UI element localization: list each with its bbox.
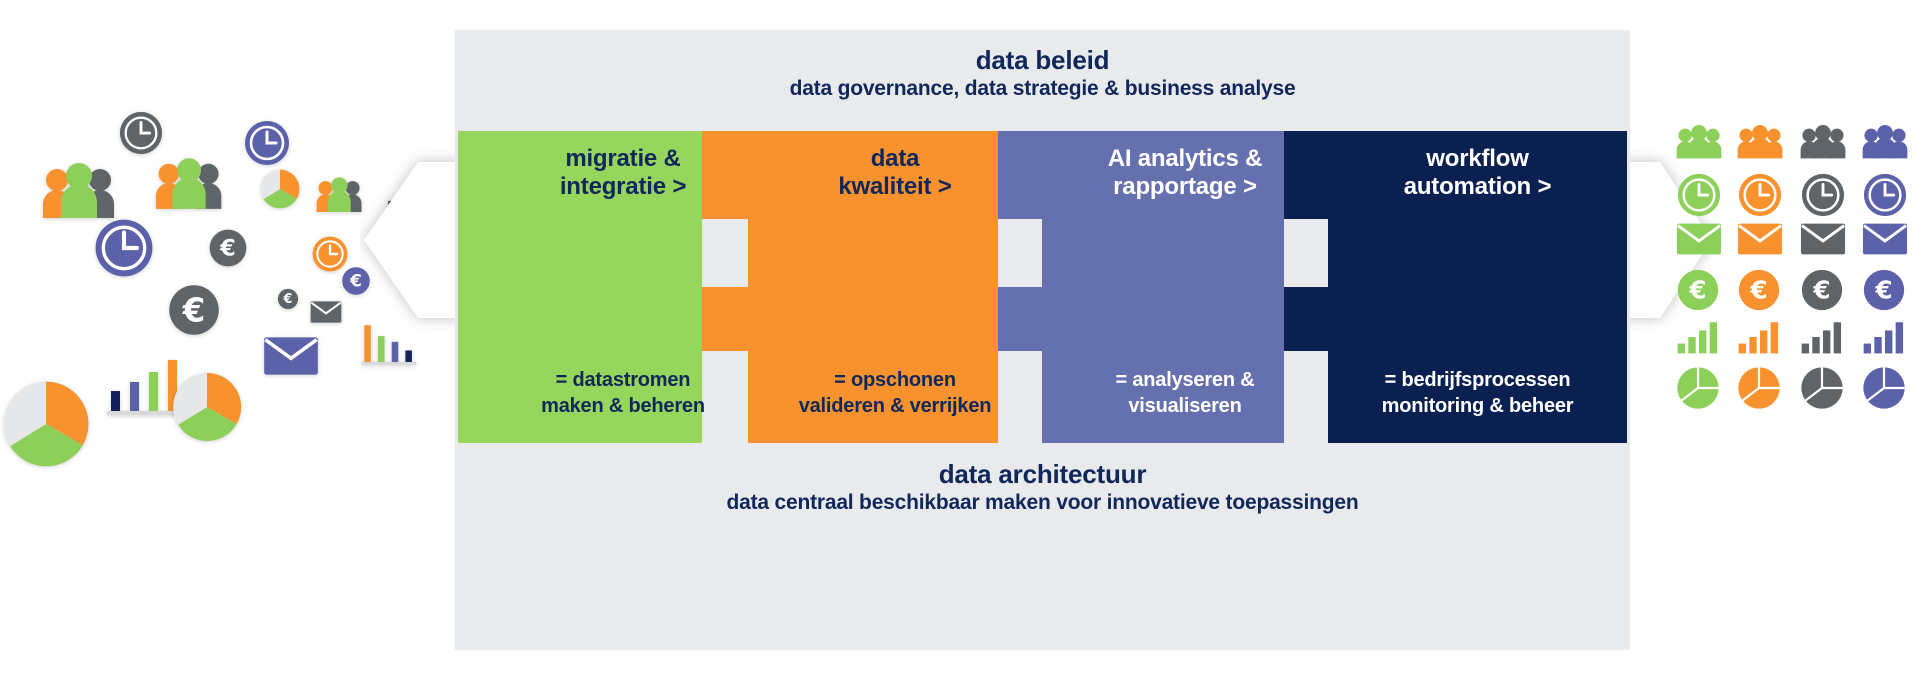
pie-chart-icon	[1862, 366, 1908, 412]
header-line-1: AI analytics &	[1108, 145, 1263, 172]
envelope-icon	[1737, 222, 1783, 268]
clock-icon	[1676, 172, 1722, 218]
euro-icon: €	[1676, 268, 1722, 314]
footer-line-1: = datastromen	[556, 369, 691, 391]
footer-line-2: monitoring & beheer	[1382, 395, 1574, 417]
svg-text:€: €	[182, 291, 206, 329]
envelope-icon	[1676, 222, 1722, 268]
header-line-1: workflow	[1426, 145, 1528, 172]
puzzle-piece-ai-analytics-rapportage[interactable]: AI analytics & rapportage > = analyseren…	[998, 131, 1328, 443]
euro-icon: €	[1862, 268, 1908, 314]
header-line-2: kwaliteit >	[838, 173, 951, 200]
euro-icon: €	[167, 283, 221, 337]
header-line-1: migratie &	[565, 145, 680, 172]
top-band-subtitle: data governance, data strategie & busine…	[455, 76, 1630, 102]
euro-icon: €	[1800, 268, 1846, 314]
clock-icon	[1737, 172, 1783, 218]
puzzle-piece-footer: = bedrijfsprocessen monitoring & beheer	[1328, 367, 1627, 419]
puzzle-piece-header: workflow automation >	[1328, 145, 1627, 202]
people-icon	[1862, 122, 1908, 168]
people-icon	[1676, 122, 1722, 168]
bottom-band-subtitle: data centraal beschikbaar maken voor inn…	[455, 490, 1630, 516]
clock-icon	[1800, 172, 1846, 218]
pie-chart-icon	[1676, 366, 1722, 412]
bar-chart-icon	[1862, 318, 1908, 364]
svg-text:€: €	[1874, 275, 1892, 304]
envelope-icon	[1862, 222, 1908, 268]
euro-icon: €	[277, 288, 299, 310]
pie-chart-icon	[1737, 366, 1783, 412]
top-band: data beleid data governance, data strate…	[455, 46, 1630, 102]
svg-text:€: €	[283, 292, 293, 307]
svg-text:€: €	[219, 236, 236, 262]
bottom-band: data architectuur data centraal beschikb…	[455, 460, 1630, 516]
footer-line-1: = opschonen	[834, 369, 956, 391]
puzzle-strip: migratie & integratie > = datastromen ma…	[458, 131, 1627, 443]
clock-icon	[93, 217, 155, 279]
footer-line-2: maken & beheren	[541, 395, 705, 417]
svg-text:€: €	[1688, 275, 1706, 304]
icon-grid: € € € €	[1676, 122, 1914, 412]
clock-icon	[118, 110, 164, 156]
diagram-canvas: € € € € €	[0, 0, 1919, 685]
svg-text:€: €	[1749, 275, 1767, 304]
pie-chart-icon	[1800, 366, 1846, 412]
bar-chart-icon	[1800, 318, 1846, 364]
pie-chart-icon	[259, 168, 301, 210]
header-line-2: integratie >	[560, 173, 686, 200]
pie-chart-icon	[0, 378, 92, 470]
svg-text:€: €	[1812, 275, 1830, 304]
bottom-band-title: data architectuur	[455, 460, 1630, 490]
clock-icon	[1862, 172, 1908, 218]
header-line-1: data	[871, 145, 920, 172]
header-line-2: automation >	[1404, 173, 1552, 200]
bar-chart-icon	[1676, 318, 1722, 364]
pie-chart-icon	[170, 370, 244, 444]
people-icon	[155, 155, 225, 213]
footer-line-2: valideren & verrijken	[799, 395, 992, 417]
people-icon	[1737, 122, 1783, 168]
clock-icon	[243, 119, 291, 167]
envelope-icon	[1800, 222, 1846, 268]
euro-icon: €	[208, 228, 248, 268]
footer-line-1: = analyseren &	[1116, 369, 1255, 391]
euro-icon: €	[1737, 268, 1783, 314]
envelope-icon	[263, 336, 319, 376]
bar-chart-icon	[1737, 318, 1783, 364]
puzzle-piece-data-kwaliteit[interactable]: data kwaliteit > = opschonen valideren &…	[702, 131, 1042, 443]
people-icon	[42, 160, 118, 222]
scattered-icon-cloud: € € € € €	[0, 0, 470, 685]
puzzle-piece-workflow-automation[interactable]: workflow automation > = bedrijfsprocesse…	[1284, 131, 1627, 443]
footer-line-2: visualiseren	[1128, 395, 1241, 417]
envelope-icon	[310, 300, 342, 324]
header-line-2: rapportage >	[1113, 173, 1257, 200]
footer-line-1: = bedrijfsprocessen	[1385, 369, 1571, 391]
people-icon	[1800, 122, 1846, 168]
people-icon	[316, 175, 364, 215]
top-band-title: data beleid	[455, 46, 1630, 76]
